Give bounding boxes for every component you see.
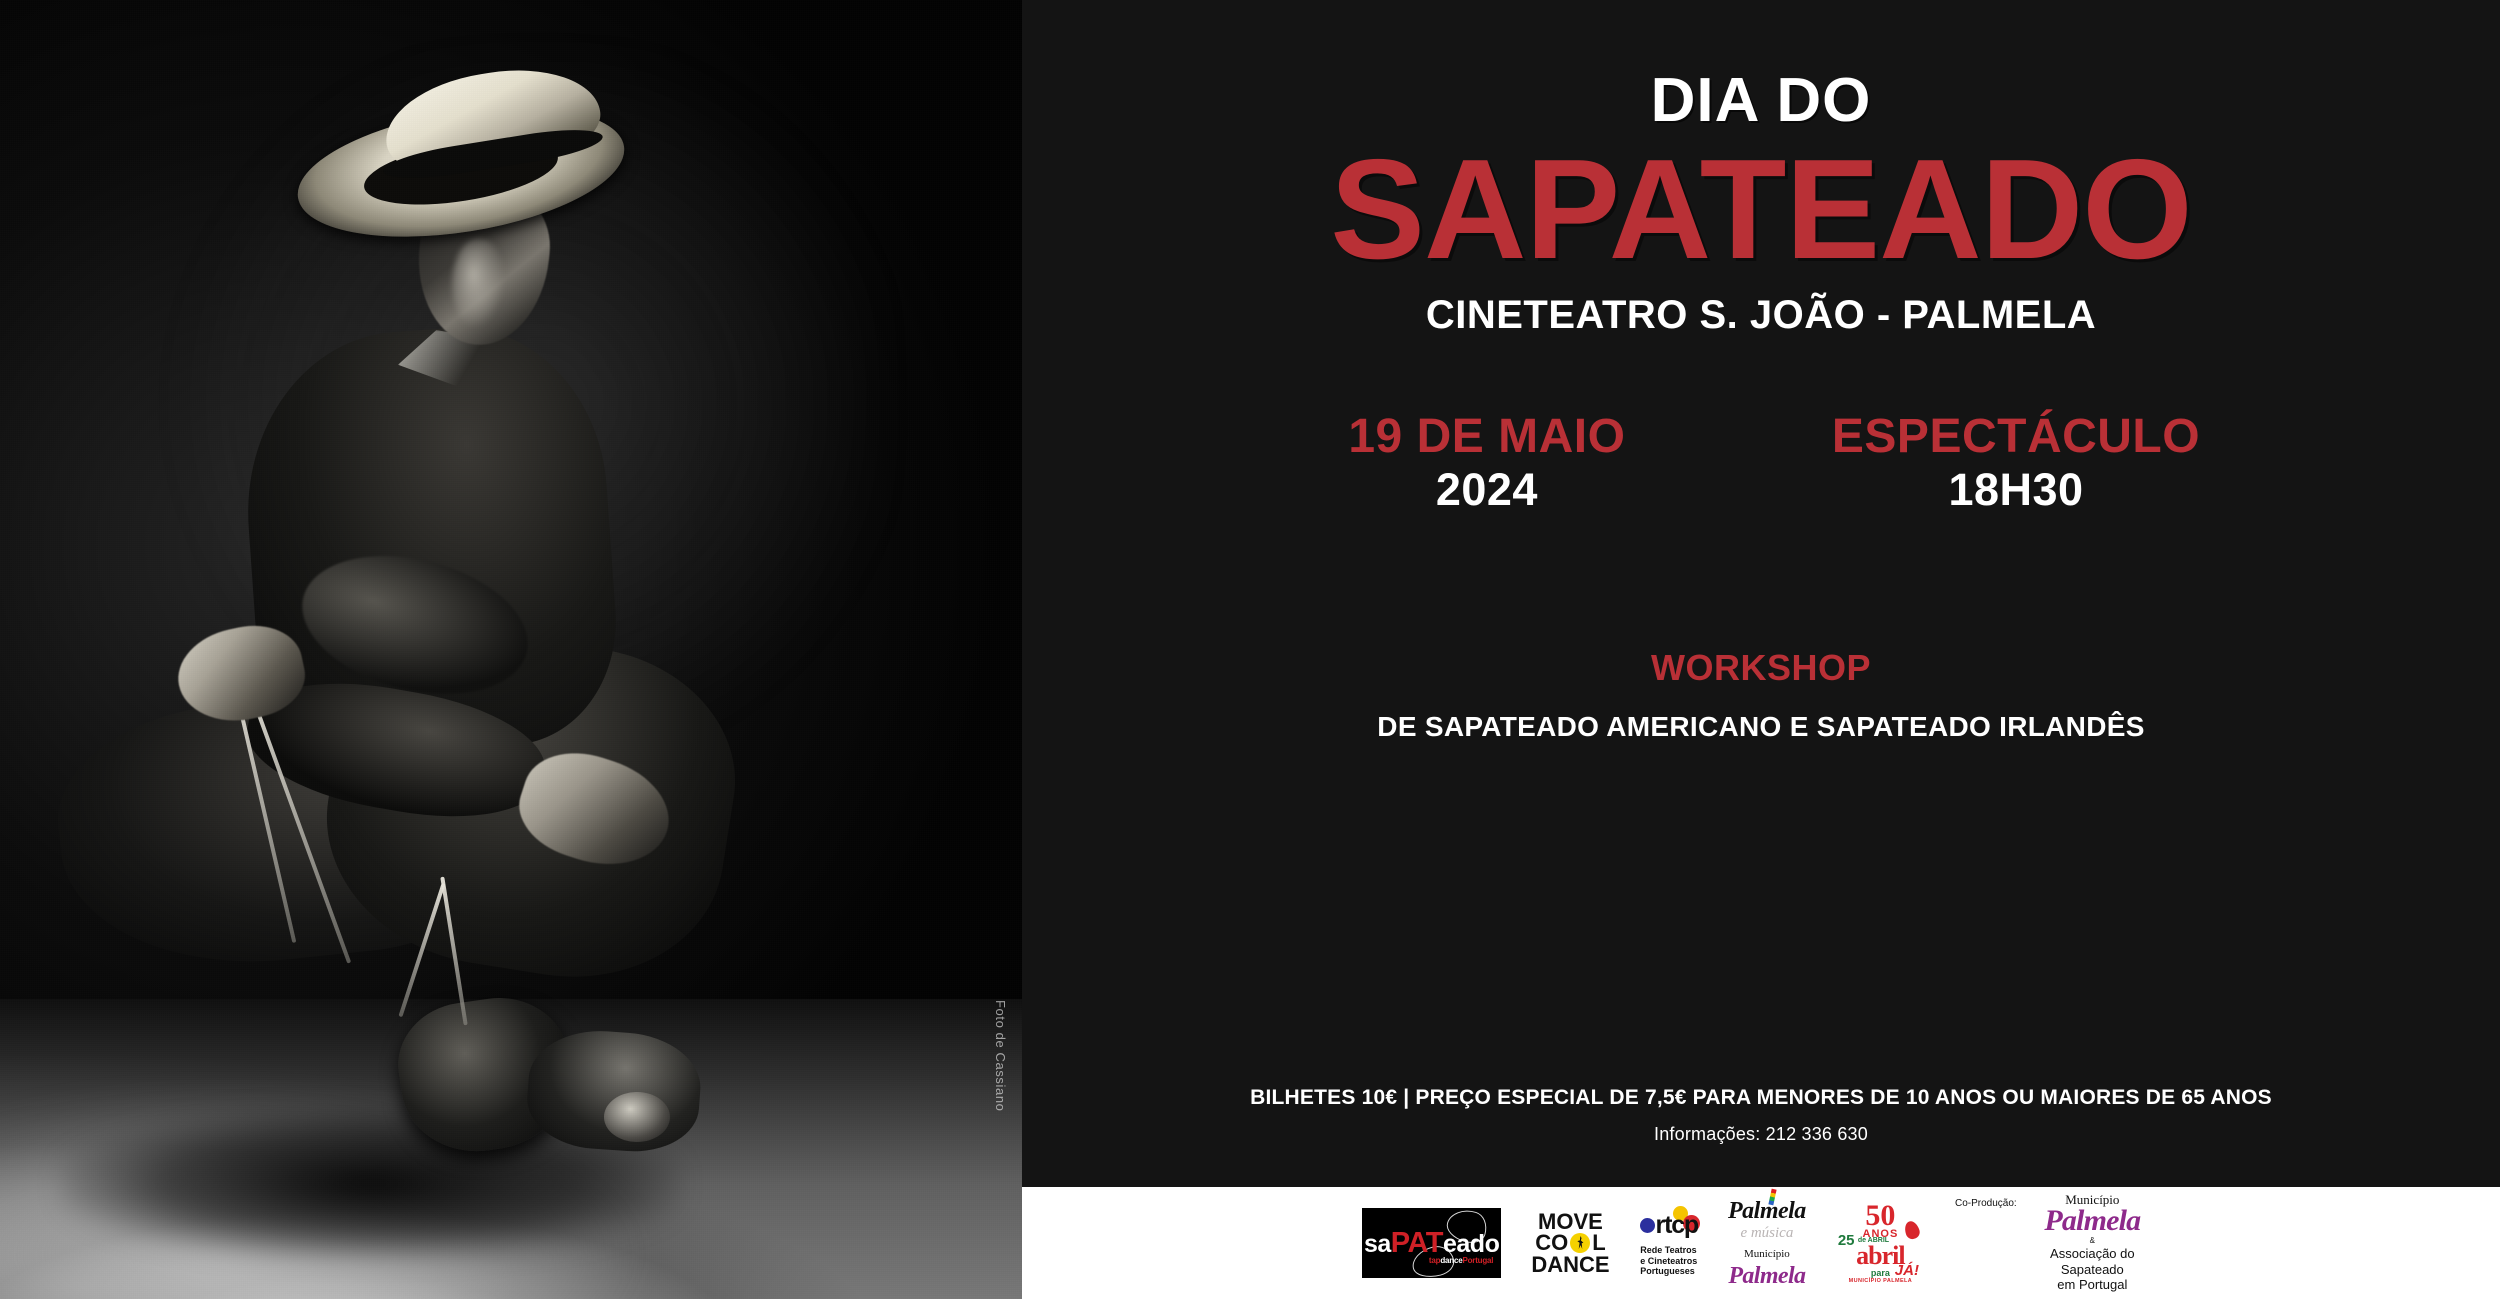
content-panel: DIA DO SAPATEADO CINETEATRO S. JOÃO - PA… — [1022, 0, 2500, 1187]
logo-palmela-musica-wordmark: Palmela — [1728, 1199, 1806, 1223]
tagline-dance: dance — [1440, 1256, 1462, 1265]
associacao-line1: Associação do Sapateado — [2025, 1246, 2160, 1277]
associacao-line2: em Portugal — [2025, 1277, 2160, 1293]
logo-abril-municipio: MUNICÍPIO PALMELA — [1849, 1279, 1913, 1285]
logo-move-l: L — [1592, 1232, 1605, 1253]
co-producao-ampersand: & — [2090, 1237, 2095, 1245]
event-date-label: 19 DE MAIO — [1322, 412, 1652, 463]
carnation-flame-icon — [1903, 1219, 1922, 1240]
event-venue: CINETEATRO S. JOÃO - PALMELA — [1022, 293, 2500, 338]
logo-sapateado-part3: eado — [1443, 1230, 1499, 1258]
ticket-info-line: Informações: 212 336 630 — [1022, 1124, 2500, 1145]
logo-move-co: CO — [1535, 1232, 1568, 1253]
logo-rtcp-subtitle: Rede Teatros e Cineteatros Portugueses — [1640, 1245, 1697, 1277]
logo-abril-de-abril: de ABRIL — [1858, 1237, 1889, 1245]
rtcp-sub-line2: e Cineteatros — [1640, 1256, 1697, 1267]
logo-palmela-municipio-wordmark: Palmela — [1728, 1264, 1805, 1288]
event-show-label: ESPECTÁCULO — [1832, 412, 2200, 463]
logo-co-producao: Co-Produção: Município Palmela & Associa… — [1955, 1193, 2160, 1293]
logo-sapateado-part1: sa — [1364, 1230, 1391, 1258]
event-title-line1: DIA DO — [1022, 70, 2500, 132]
logo-sapateado-tagline: tapdancePortugal — [1429, 1256, 1493, 1265]
workshop-title: WORKSHOP — [1022, 647, 2500, 689]
datetime-row: 19 DE MAIO 2024 ESPECTÁCULO 18H30 — [1022, 412, 2500, 515]
rtcp-sub-line3: Portugueses — [1640, 1266, 1697, 1277]
palmela-musica-text: Palmela — [1728, 1198, 1806, 1224]
co-producao-entities: Município Palmela & Associação do Sapate… — [2025, 1193, 2160, 1293]
logo-abril-ja: JÁ! — [1895, 1262, 1919, 1279]
logo-50-anos-25-abril: 50 ANOS 25 de ABRIL abril para JÁ! MUNIC… — [1836, 1197, 1925, 1289]
photo-figure-dancer — [0, 0, 1022, 1299]
logo-sapateado-tapdance-portugal: saPATeado tapdancePortugal — [1362, 1208, 1501, 1278]
event-show-time: 18H30 — [1832, 465, 2200, 515]
logo-sapateado-part2: PAT — [1391, 1227, 1443, 1259]
tap-shoe-right — [524, 1026, 704, 1156]
workshop-block: WORKSHOP DE SAPATEADO AMERICANO E SAPATE… — [1022, 647, 2500, 743]
event-date-column: 19 DE MAIO 2024 — [1322, 412, 1652, 515]
logo-rtcp-wordmark: rtcp — [1656, 1213, 1698, 1238]
blue-dot-icon — [1640, 1218, 1655, 1233]
event-title-line2: SAPATEADO — [1022, 138, 2500, 283]
logo-abril-50: 50 — [1865, 1202, 1895, 1229]
event-year: 2024 — [1322, 465, 1652, 515]
sponsor-logo-bar: saPATeado tapdancePortugal MOVE COL DANC… — [1022, 1187, 2500, 1299]
logo-move-line1: MOVE — [1538, 1211, 1603, 1232]
photo-stage — [0, 0, 1022, 1299]
photo-credit: Foto de Cassiano — [993, 1000, 1008, 1112]
poster-root: Foto de Cassiano DIA DO SAPATEADO CINETE… — [0, 0, 2500, 1299]
co-producao-palmela-wordmark: Palmela — [2044, 1206, 2140, 1236]
logo-move-cool-dance: MOVE COL DANCE — [1531, 1211, 1609, 1274]
logo-palmela-e-musica: Palmela e música Município Palmela — [1728, 1199, 1806, 1288]
co-producao-associacao: Associação do Sapateado em Portugal — [2025, 1246, 2160, 1293]
logo-palmela-municipio-label: Município — [1744, 1249, 1790, 1260]
logo-move-line2: COL — [1535, 1232, 1605, 1253]
event-show-column: ESPECTÁCULO 18H30 — [1832, 412, 2200, 515]
event-photo: Foto de Cassiano — [0, 0, 1022, 1299]
ticket-price-line: BILHETES 10€ | PREÇO ESPECIAL DE 7,5€ PA… — [1022, 1086, 2500, 1110]
logo-sapateado-wordmark: saPATeado — [1364, 1229, 1499, 1258]
dancer-circle-icon — [1570, 1233, 1590, 1253]
ticket-block: BILHETES 10€ | PREÇO ESPECIAL DE 7,5€ PA… — [1022, 1086, 2500, 1145]
logo-abril-25: 25 — [1838, 1233, 1855, 1248]
workshop-subtitle: DE SAPATEADO AMERICANO E SAPATEADO IRLAN… — [1022, 711, 2500, 743]
tap-shoe-metal-plate — [604, 1092, 670, 1142]
title-block: DIA DO SAPATEADO CINETEATRO S. JOÃO - PA… — [1022, 0, 2500, 338]
figure-face-highlight — [452, 238, 506, 330]
logo-abril-para: para — [1871, 1269, 1890, 1278]
logo-rtcp-mark: rtcp — [1640, 1209, 1698, 1243]
logo-rtcp: rtcp Rede Teatros e Cineteatros Portugue… — [1640, 1209, 1698, 1277]
co-producao-label: Co-Produção: — [1955, 1199, 2017, 1209]
logo-palmela-musica-subtitle: e música — [1740, 1226, 1793, 1241]
tagline-portugal: Portugal — [1462, 1256, 1493, 1265]
tagline-tap: tap — [1429, 1256, 1440, 1265]
logo-move-line3: DANCE — [1531, 1254, 1609, 1275]
rtcp-sub-line1: Rede Teatros — [1640, 1245, 1697, 1256]
